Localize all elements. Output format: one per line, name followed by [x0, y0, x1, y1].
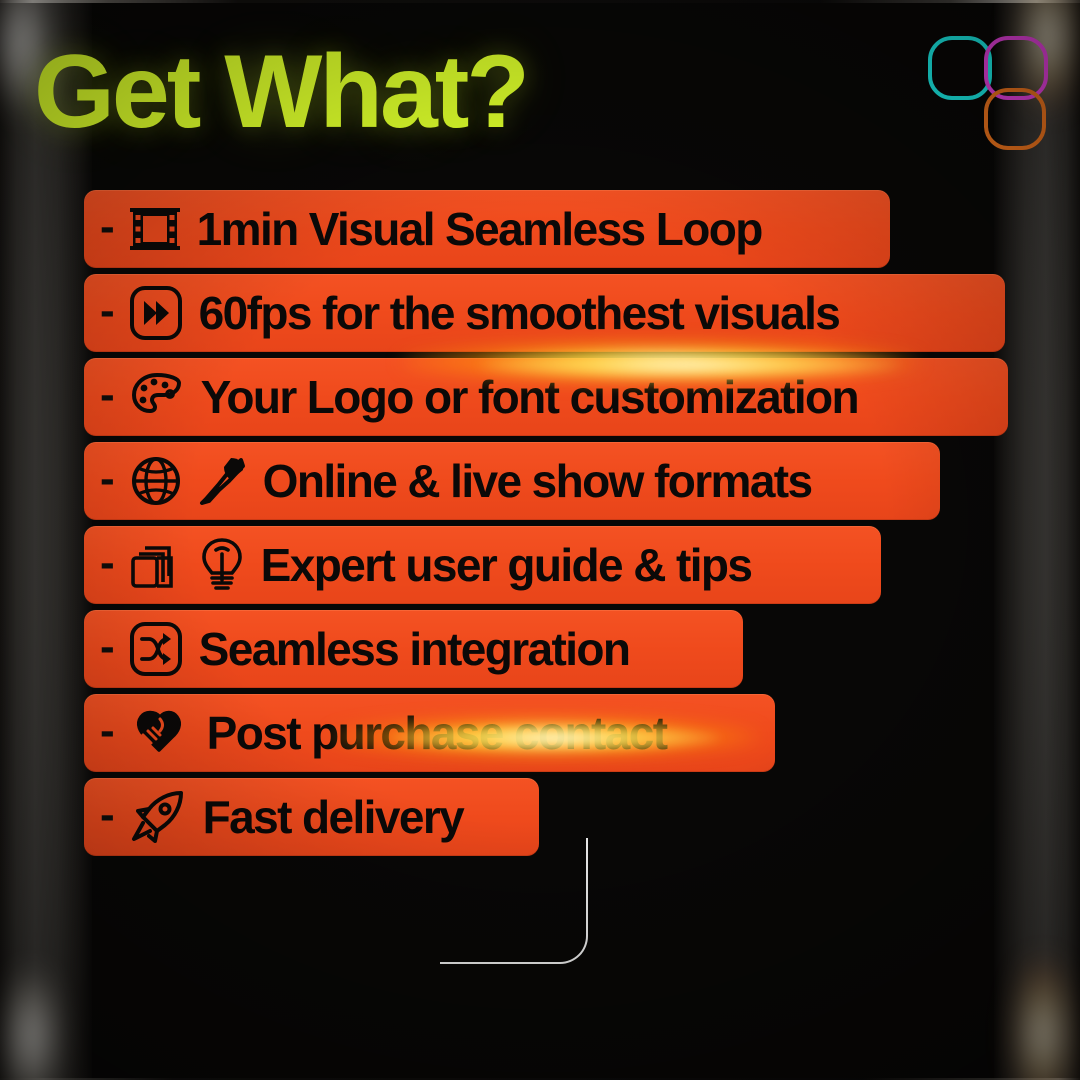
- corner-glow-bottom-right: [1016, 960, 1070, 1080]
- feature-icon-group: [129, 285, 183, 341]
- feature-row[interactable]: - Fast delivery: [84, 778, 539, 856]
- bullet-dash: -: [100, 625, 115, 669]
- feature-label: Fast delivery: [203, 794, 463, 840]
- feature-icon-group: [129, 621, 183, 677]
- feature-row[interactable]: - 60fps for the smoothest visuals: [84, 274, 1005, 352]
- palette-icon: [129, 370, 185, 424]
- feature-label: Post purchase contact: [207, 710, 667, 756]
- bullet-dash: -: [100, 793, 115, 837]
- three-rounded-squares-logo: [924, 28, 1058, 158]
- feature-label: Expert user guide & tips: [261, 542, 752, 588]
- shuffle-icon: [129, 621, 183, 677]
- feature-row[interactable]: - 1min Visual Seamless Loop: [84, 190, 890, 268]
- feature-icon-group: [129, 789, 187, 845]
- feature-icon-group: [129, 204, 181, 254]
- bullet-dash: -: [100, 457, 115, 501]
- lightbulb-icon: [199, 536, 245, 594]
- bullet-dash: -: [100, 709, 115, 753]
- feature-row[interactable]: - Your Logo or font customization: [84, 358, 1008, 436]
- rocket-icon: [129, 789, 187, 845]
- feature-icon-group: [129, 454, 247, 508]
- bullet-dash: -: [100, 289, 115, 333]
- microphone-icon: [197, 454, 247, 508]
- feature-icon-group: [129, 536, 245, 594]
- feature-label: 1min Visual Seamless Loop: [197, 206, 762, 252]
- bullet-dash: -: [100, 541, 115, 585]
- feature-label: Online & live show formats: [263, 458, 812, 504]
- film-frames-icon: [129, 204, 181, 254]
- feature-row[interactable]: - Expert user guide & tips: [84, 526, 881, 604]
- corner-glow-bottom-left: [6, 968, 56, 1080]
- handshake-icon: [129, 707, 191, 759]
- bullet-dash: -: [100, 373, 115, 417]
- stacked-cards-icon: [129, 538, 185, 592]
- feature-icon-group: [129, 707, 191, 759]
- top-hairline: [0, 0, 1080, 3]
- feature-label: 60fps for the smoothest visuals: [199, 290, 840, 336]
- page-title: Get What?: [34, 40, 527, 144]
- feature-row[interactable]: - Post purchase contact: [84, 694, 775, 772]
- feature-label: Seamless integration: [199, 626, 630, 672]
- feature-list: - 1min Visual Seamless Loop- 60fps for t…: [84, 190, 1008, 856]
- left-edge-strip: [0, 0, 92, 1080]
- feature-icon-group: [129, 370, 185, 424]
- bullet-dash: -: [100, 205, 115, 249]
- fast-forward-icon: [129, 285, 183, 341]
- feature-row[interactable]: - Online & live show formats: [84, 442, 940, 520]
- feature-row[interactable]: - Seamless integration: [84, 610, 743, 688]
- feature-label: Your Logo or font customization: [201, 374, 858, 420]
- poster-canvas: Get What? - 1min Visual Seamless Loop- 6…: [0, 0, 1080, 1080]
- globe-icon: [129, 454, 183, 508]
- decorative-corner-bracket: [440, 838, 588, 964]
